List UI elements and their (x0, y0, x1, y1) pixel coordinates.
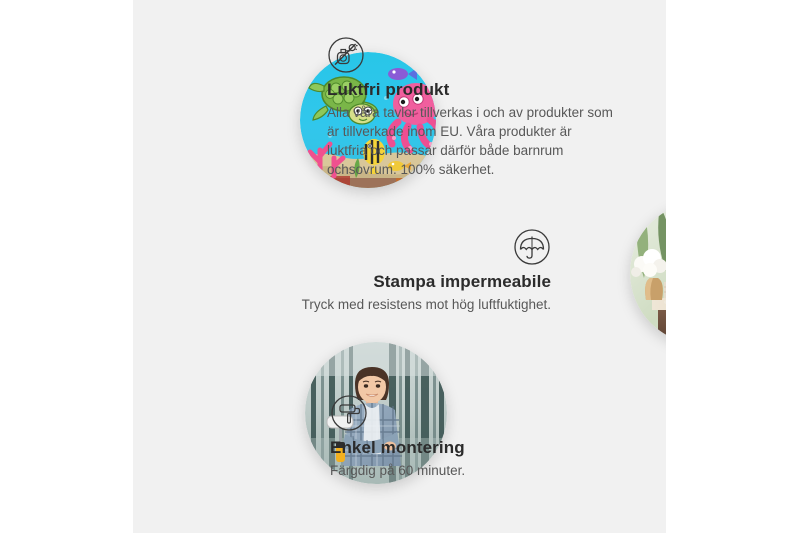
feature-easy-mounting: Enkel montering Färgdig på 60 minuter. (330, 394, 630, 480)
feature-title: Luktfri produkt (327, 80, 627, 100)
feature-body: Alla våra tavlor tillverkas i och av pro… (327, 103, 613, 179)
feature-body: Tryck med resistens mot hög luftfuktighe… (223, 295, 551, 314)
no-fragrance-icon (327, 36, 365, 74)
content-panel: Luktfri produkt Alla våra tavlor tillver… (133, 0, 666, 533)
feature-title: Enkel montering (330, 438, 630, 458)
feature-title: Stampa impermeabile (223, 272, 551, 292)
feature-odor-free: Luktfri produkt Alla våra tavlor tillver… (327, 36, 627, 179)
promo-banner: Luktfri produkt Alla våra tavlor tillver… (0, 0, 800, 533)
feature-waterproof-print: Stampa impermeabile Tryck med resistens … (223, 228, 551, 314)
feature-body: Färgdig på 60 minuter. (330, 461, 630, 480)
umbrella-icon (513, 228, 551, 266)
paint-roller-icon (330, 394, 368, 432)
photo-bathroom-wallpaper (630, 202, 666, 344)
